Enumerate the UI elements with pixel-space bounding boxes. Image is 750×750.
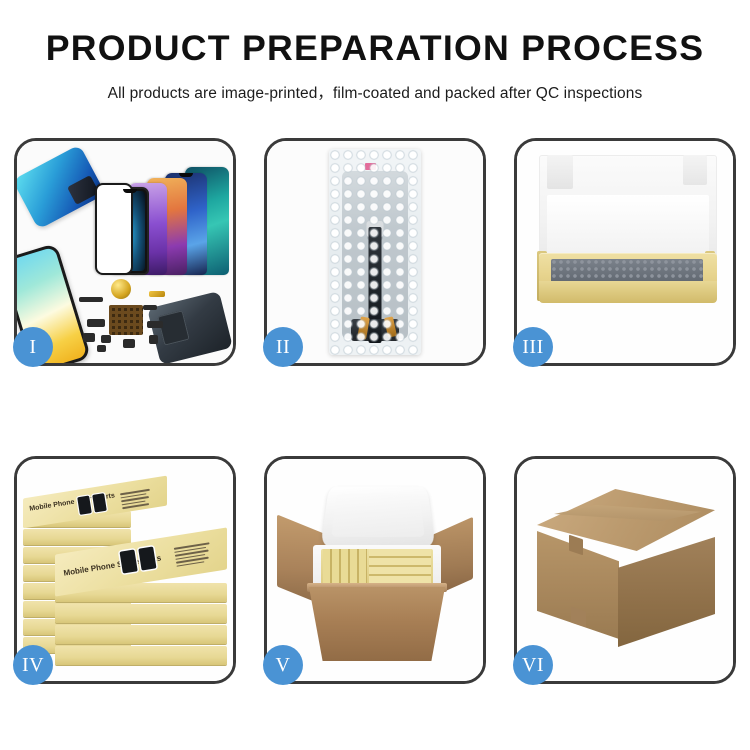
kraft-box-stack: Mobile Phone Spare Parts (23, 475, 233, 671)
kraft-box-front (539, 281, 717, 303)
page-title: PRODUCT PREPARATION PROCESS (0, 30, 750, 69)
lid-flap-left (547, 155, 573, 189)
step-badge-1: I (13, 327, 53, 367)
step-6-image (517, 459, 733, 681)
step-4-image: Mobile Phone Spare Parts (17, 459, 233, 681)
step-panel-4[interactable]: Mobile Phone Spare Parts (14, 456, 236, 684)
phone-fan-group (109, 163, 233, 275)
step-badge-2: II (263, 327, 303, 367)
foam-box-lid (320, 487, 435, 547)
step-badge-3: III (513, 327, 553, 367)
page-subtitle: All products are image-printed，film-coat… (0, 81, 750, 103)
step-3-image (517, 141, 733, 363)
step-badge-5: V (263, 645, 303, 685)
speaker-part (111, 279, 131, 299)
phone-display-white (95, 183, 133, 275)
page-header: PRODUCT PREPARATION PROCESS All products… (0, 0, 750, 103)
bubble-wrap-bag (329, 149, 421, 355)
pink-label (365, 163, 376, 170)
lid-flap-right (683, 155, 707, 185)
spare-parts-group (79, 281, 189, 357)
step-panel-2[interactable]: II (264, 138, 486, 366)
step-panel-3[interactable]: III (514, 138, 736, 366)
carton-body (309, 587, 445, 661)
step-badge-6: VI (513, 645, 553, 685)
step-panel-5[interactable]: V (264, 456, 486, 684)
process-steps-grid: I II (14, 138, 736, 684)
step-badge-4: IV (13, 645, 53, 685)
screw-grid-part (109, 305, 143, 335)
step-panel-6[interactable]: VI (514, 456, 736, 684)
step-2-image (267, 141, 483, 363)
step-5-image (267, 459, 483, 681)
step-panel-1[interactable]: I (14, 138, 236, 366)
step-1-image (17, 141, 233, 363)
